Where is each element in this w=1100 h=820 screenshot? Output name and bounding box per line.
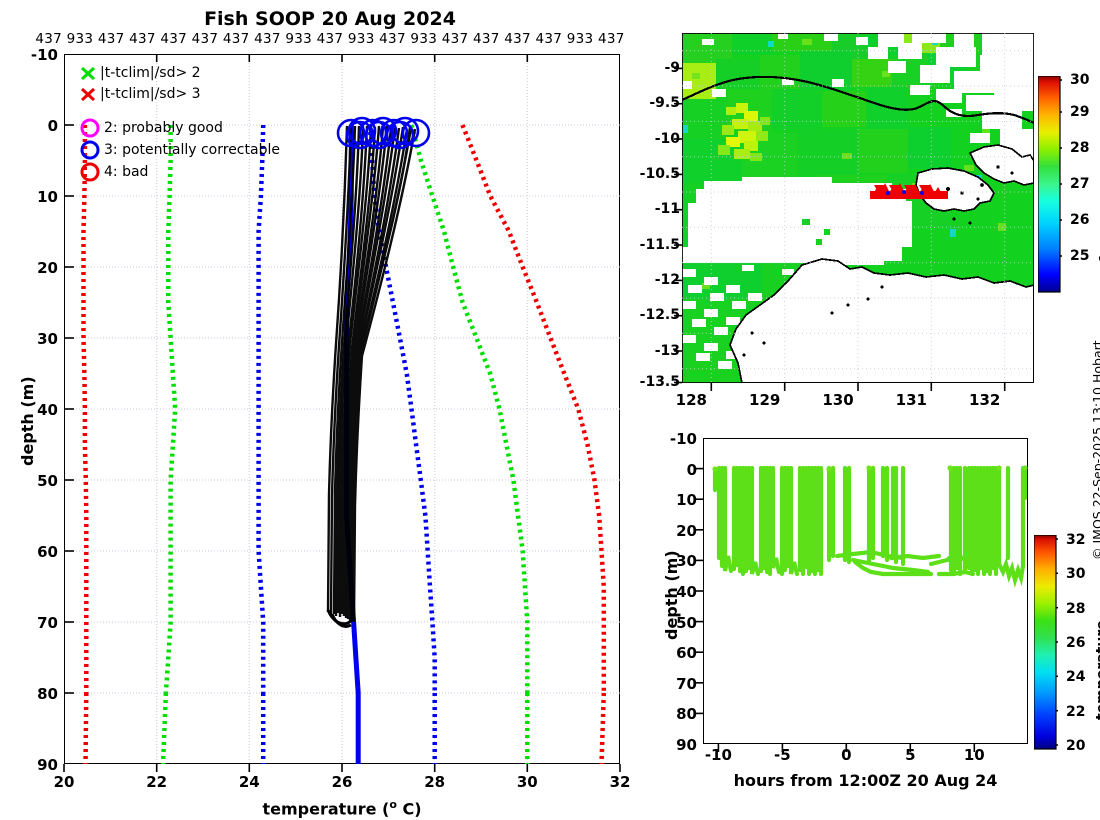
profile-xtick-22: 22 — [137, 773, 177, 791]
profile-xtick-24: 24 — [229, 773, 269, 791]
temperature-colorbar — [1034, 535, 1058, 751]
map-xtick-131: 131 — [891, 391, 931, 409]
sst-cbar-tick-27: 27 — [1070, 176, 1089, 192]
profile-ytick-30: 30 — [20, 330, 58, 348]
profile-ytick-60: 60 — [20, 543, 58, 561]
map-xtick-129: 129 — [745, 391, 785, 409]
profile-ytick-70: 70 — [20, 614, 58, 632]
profile-xtick-20: 20 — [44, 773, 84, 791]
map-axis-ticks — [672, 33, 1044, 393]
profile-axis-ticks — [56, 46, 636, 786]
temp-cbar-tick-22: 22 — [1066, 704, 1085, 720]
section-ytick--10: -10 — [655, 430, 697, 448]
sst-cbar-tick-28: 28 — [1070, 140, 1089, 156]
section-yaxis-label: depth (m) — [662, 550, 681, 640]
map-xtick-130: 130 — [818, 391, 858, 409]
section-xtick-5: 5 — [890, 746, 930, 764]
profile-ytick-50: 50 — [20, 472, 58, 490]
section-axis-ticks — [695, 430, 1040, 760]
sst-colorbar — [1038, 76, 1062, 294]
profile-xtick-26: 26 — [322, 773, 362, 791]
profile-xaxis-label-tail: C) — [397, 799, 422, 818]
profile-xtick-32: 32 — [600, 773, 640, 791]
section-panel: -10 0 10 20 30 40 50 60 70 80 90 -10 -5 … — [660, 420, 1100, 820]
temperature-colorbar-title: temperature — [1094, 620, 1100, 720]
section-xtick--5: -5 — [762, 746, 802, 764]
profile-panel: |t-tclim|/sd> 2 |t-tclim|/sd> 3 2: proba… — [0, 46, 660, 820]
section-xtick-10: 10 — [954, 746, 994, 764]
profile-id-header: 437 933 437 437 437 437 437 437 933 437 … — [0, 31, 660, 47]
map-xtick-132: 132 — [965, 391, 1005, 409]
profile-ytick-0: 0 — [20, 117, 58, 135]
profile-xtick-28: 28 — [415, 773, 455, 791]
section-ytick-20: 20 — [655, 522, 697, 540]
section-ytick-0: 0 — [655, 461, 697, 479]
sst-cbar-tick-30: 30 — [1070, 72, 1089, 88]
temp-cbar-tick-32: 32 — [1066, 532, 1085, 548]
profile-xtick-30: 30 — [507, 773, 547, 791]
section-ytick-10: 10 — [655, 491, 697, 509]
temp-cbar-tick-30: 30 — [1066, 566, 1085, 582]
section-ytick-70: 70 — [655, 675, 697, 693]
profile-xaxis-label-main: temperature ( — [262, 799, 389, 818]
profile-ytick-20: 20 — [20, 259, 58, 277]
temp-cbar-tick-20: 20 — [1066, 738, 1085, 754]
copyright-notice: © IMOS 22-Sep-2025 13:10 Hobart — [1090, 340, 1100, 560]
temp-cbar-tick-28: 28 — [1066, 601, 1085, 617]
profile-xaxis-label: temperature (o C) — [64, 798, 620, 818]
profile-yaxis-label: depth (m) — [18, 376, 37, 466]
sst-cbar-tick-29: 29 — [1070, 104, 1089, 120]
profile-xaxis-degree-symbol: o — [389, 798, 397, 811]
sst-cbar-tick-26: 26 — [1070, 212, 1089, 228]
page-title: Fish SOOP 20 Aug 2024 — [0, 8, 660, 30]
section-ytick-80: 80 — [655, 705, 697, 723]
map-xtick-128: 128 — [671, 391, 711, 409]
section-xtick-0: 0 — [826, 746, 866, 764]
section-ytick-60: 60 — [655, 644, 697, 662]
sst-cbar-tick-25: 25 — [1070, 248, 1089, 264]
profile-ytick--10: -10 — [20, 46, 58, 64]
sst-map-panel: -9 -9.5 -10 -10.5 -11 -11.5 -12 -12.5 -1… — [660, 0, 1100, 420]
section-xtick--10: -10 — [698, 746, 738, 764]
section-xaxis-label: hours from 12:00Z 20 Aug 24 — [703, 771, 1028, 790]
profile-ytick-90: 90 — [20, 756, 58, 774]
section-ytick-90: 90 — [655, 736, 697, 754]
profile-ytick-80: 80 — [20, 685, 58, 703]
temp-cbar-tick-24: 24 — [1066, 669, 1085, 685]
profile-ytick-10: 10 — [20, 188, 58, 206]
temp-cbar-tick-26: 26 — [1066, 635, 1085, 651]
